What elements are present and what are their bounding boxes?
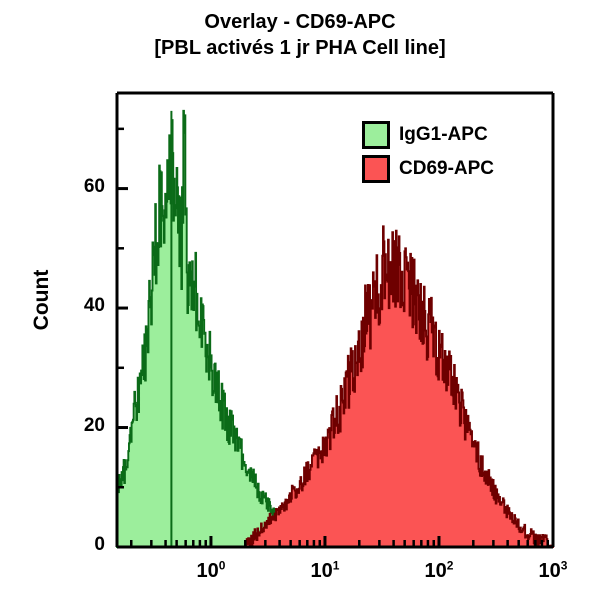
x-tick-mantissa: 10 <box>425 560 447 582</box>
chart-legend: IgG1-APC CD69-APC <box>362 118 494 186</box>
histogram-trace-cd69-apc <box>245 226 553 547</box>
x-tick-mantissa: 10 <box>310 560 332 582</box>
x-tick-label-1e2: 102 <box>399 560 479 583</box>
y-tick-label-20: 20 <box>45 415 105 437</box>
x-tick-exponent: 3 <box>561 558 568 572</box>
flow-cytometry-figure: Overlay - CD69-APC [PBL activés 1 jr PHA… <box>0 0 600 600</box>
x-tick-mantissa: 10 <box>196 560 218 582</box>
y-tick-label-0: 0 <box>45 534 105 556</box>
y-tick-label-40: 40 <box>45 295 105 317</box>
y-tick-label-60: 60 <box>45 176 105 198</box>
legend-swatch-cd69-apc <box>362 155 390 183</box>
x-tick-exponent: 0 <box>219 558 226 572</box>
x-tick-label-1e3: 103 <box>513 560 593 583</box>
x-tick-label-1e1: 101 <box>285 560 365 583</box>
x-tick-mantissa: 10 <box>539 560 561 582</box>
legend-item-igg1-apc: IgG1-APC <box>362 118 494 152</box>
legend-swatch-igg1-apc <box>362 121 390 149</box>
legend-label-cd69-apc: CD69-APC <box>399 158 494 180</box>
x-tick-exponent: 2 <box>447 558 454 572</box>
x-tick-label-1e0: 100 <box>171 560 251 583</box>
legend-label-igg1-apc: IgG1-APC <box>399 124 488 146</box>
x-tick-exponent: 1 <box>333 558 340 572</box>
legend-item-cd69-apc: CD69-APC <box>362 152 494 186</box>
